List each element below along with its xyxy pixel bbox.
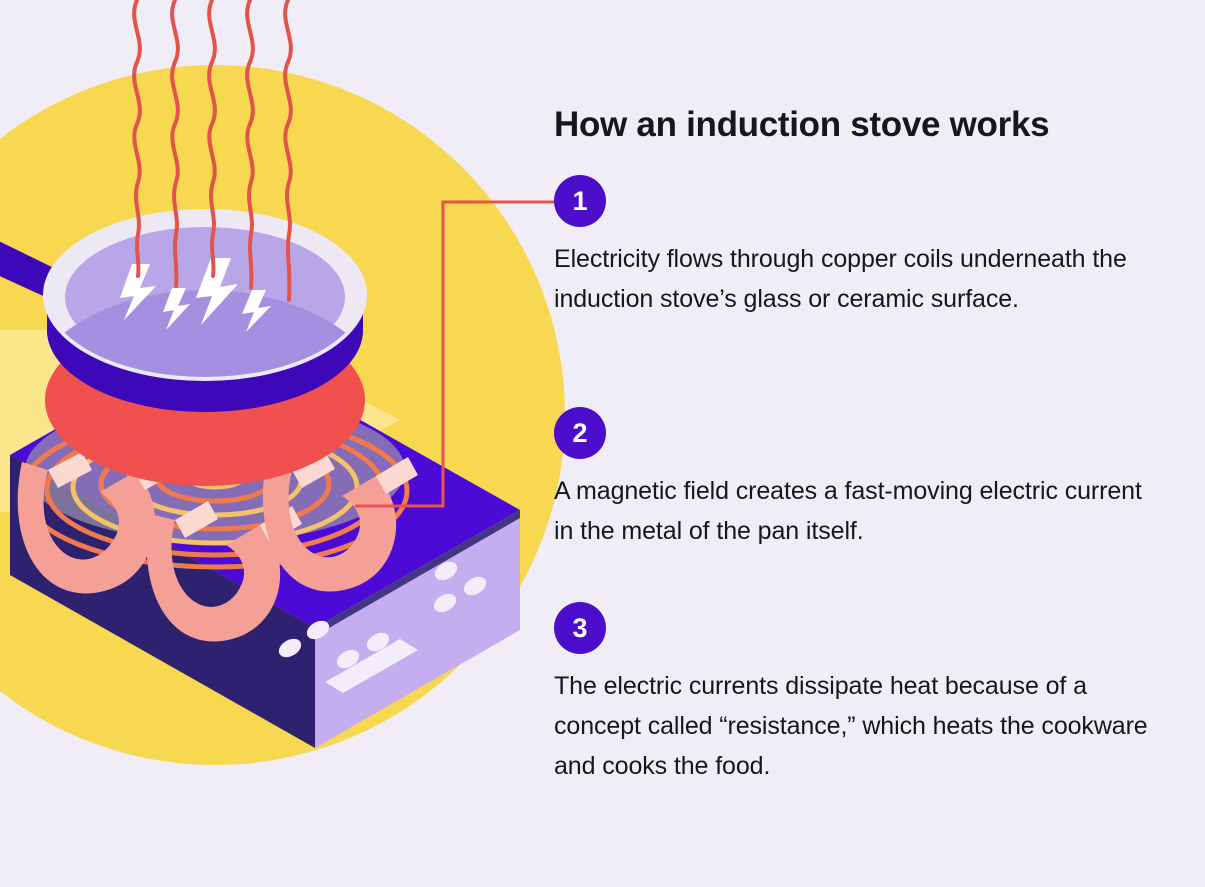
induction-stove-illustration: [0, 0, 620, 887]
page-title: How an induction stove works: [554, 105, 1049, 145]
step-2: 2 A magnetic field creates a fast-moving…: [554, 407, 1154, 551]
content-column: How an induction stove works 1 Electrici…: [554, 0, 1174, 887]
step-1-badge: 1: [554, 175, 606, 227]
infographic-root: How an induction stove works 1 Electrici…: [0, 0, 1205, 887]
step-2-badge: 2: [554, 407, 606, 459]
step-2-text: A magnetic field creates a fast-moving e…: [554, 471, 1154, 551]
step-3-badge: 3: [554, 602, 606, 654]
step-3: 3 The electric currents dissipate heat b…: [554, 602, 1154, 786]
step-1: 1 Electricity flows through copper coils…: [554, 175, 1154, 319]
step-1-text: Electricity flows through copper coils u…: [554, 239, 1154, 319]
step-3-text: The electric currents dissipate heat bec…: [554, 666, 1154, 786]
